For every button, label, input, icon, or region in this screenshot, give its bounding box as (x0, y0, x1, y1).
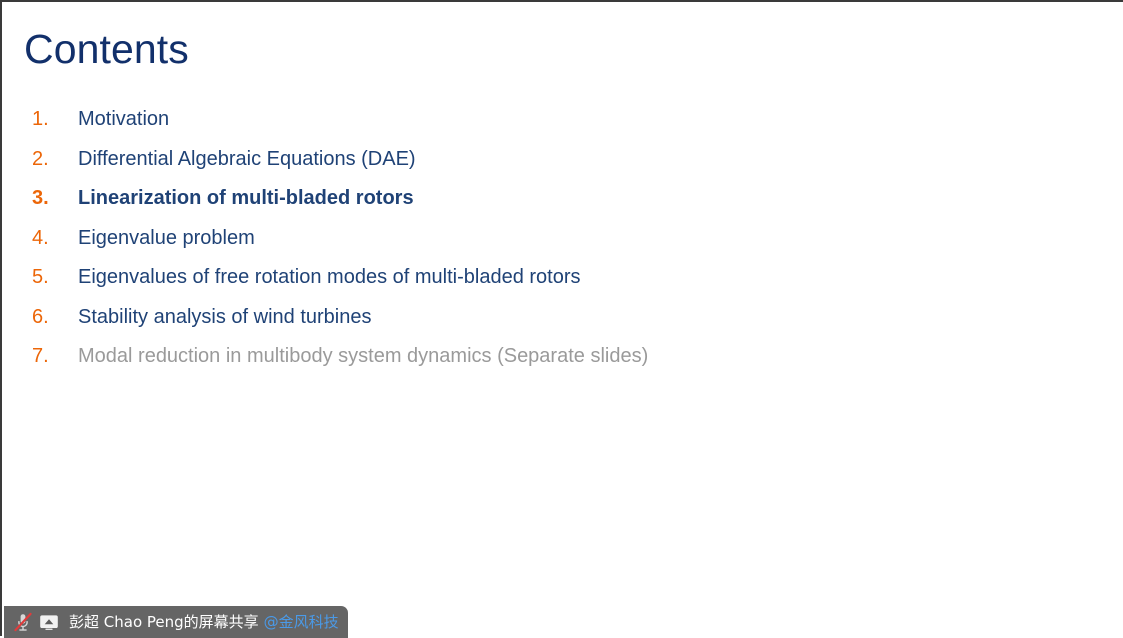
presentation-slide: Contents 1. Motivation 2. Differential A… (0, 0, 1123, 636)
list-item[interactable]: 2. Differential Algebraic Equations (DAE… (32, 146, 1082, 186)
page-title: Contents (24, 24, 189, 74)
list-item[interactable]: 4. Eigenvalue problem (32, 225, 1082, 265)
list-item-number: 4. (32, 225, 78, 251)
list-item-label: Motivation (78, 106, 169, 132)
contents-list: 1. Motivation 2. Differential Algebraic … (32, 106, 1082, 383)
list-item-number: 2. (32, 146, 78, 172)
screen-share-icon[interactable] (36, 609, 62, 635)
list-item-label: Differential Algebraic Equations (DAE) (78, 146, 416, 172)
screen-share-banner[interactable]: 彭超 Chao Peng的屏幕共享 @金风科技 (4, 606, 348, 638)
list-item[interactable]: 7. Modal reduction in multibody system d… (32, 343, 1082, 383)
list-item[interactable]: 1. Motivation (32, 106, 1082, 146)
list-item-number: 6. (32, 304, 78, 330)
share-banner-text: 彭超 Chao Peng的屏幕共享 (69, 612, 259, 632)
list-item-number: 5. (32, 264, 78, 290)
list-item[interactable]: 5. Eigenvalues of free rotation modes of… (32, 264, 1082, 304)
share-banner-org: @金风科技 (264, 612, 339, 632)
list-item[interactable]: 6. Stability analysis of wind turbines (32, 304, 1082, 344)
list-item-number: 7. (32, 343, 78, 369)
list-item-number: 3. (32, 185, 78, 211)
list-item-label: Modal reduction in multibody system dyna… (78, 343, 648, 369)
list-item-label: Stability analysis of wind turbines (78, 304, 371, 330)
list-item-label: Linearization of multi-bladed rotors (78, 185, 414, 211)
microphone-muted-icon[interactable] (10, 609, 36, 635)
list-item-label: Eigenvalues of free rotation modes of mu… (78, 264, 581, 290)
list-item-active[interactable]: 3. Linearization of multi-bladed rotors (32, 185, 1082, 225)
list-item-label: Eigenvalue problem (78, 225, 255, 251)
list-item-number: 1. (32, 106, 78, 132)
